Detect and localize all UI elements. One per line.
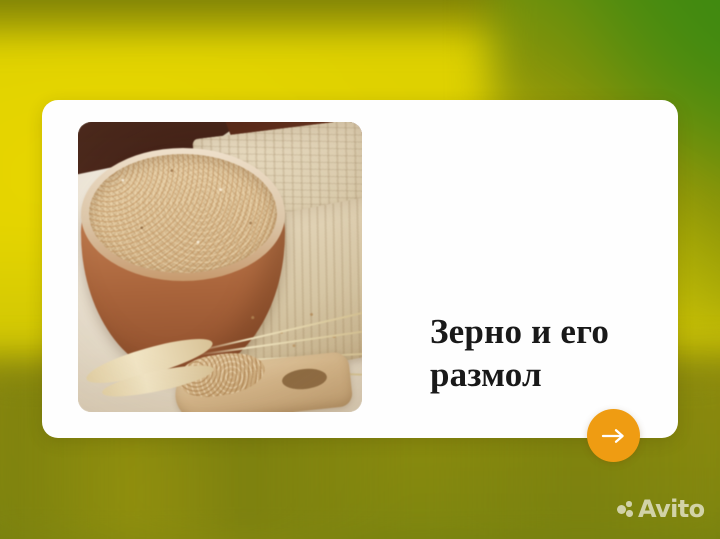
avito-watermark: Avito [617,497,705,521]
grain-photo [78,122,362,412]
content-card: Зерно и его размол [42,100,678,438]
photo-vignette [78,122,362,412]
page-title-line-2: размол [430,353,680,396]
page-title-line-1: Зерно и его [430,310,680,353]
arrow-right-icon [601,428,627,444]
avito-wordmark: Avito [638,497,705,521]
next-button[interactable] [587,409,640,462]
avito-dots-icon [617,500,634,518]
page-title: Зерно и его размол [430,310,680,396]
slide-canvas: Зерно и его размол Avito [0,0,720,539]
